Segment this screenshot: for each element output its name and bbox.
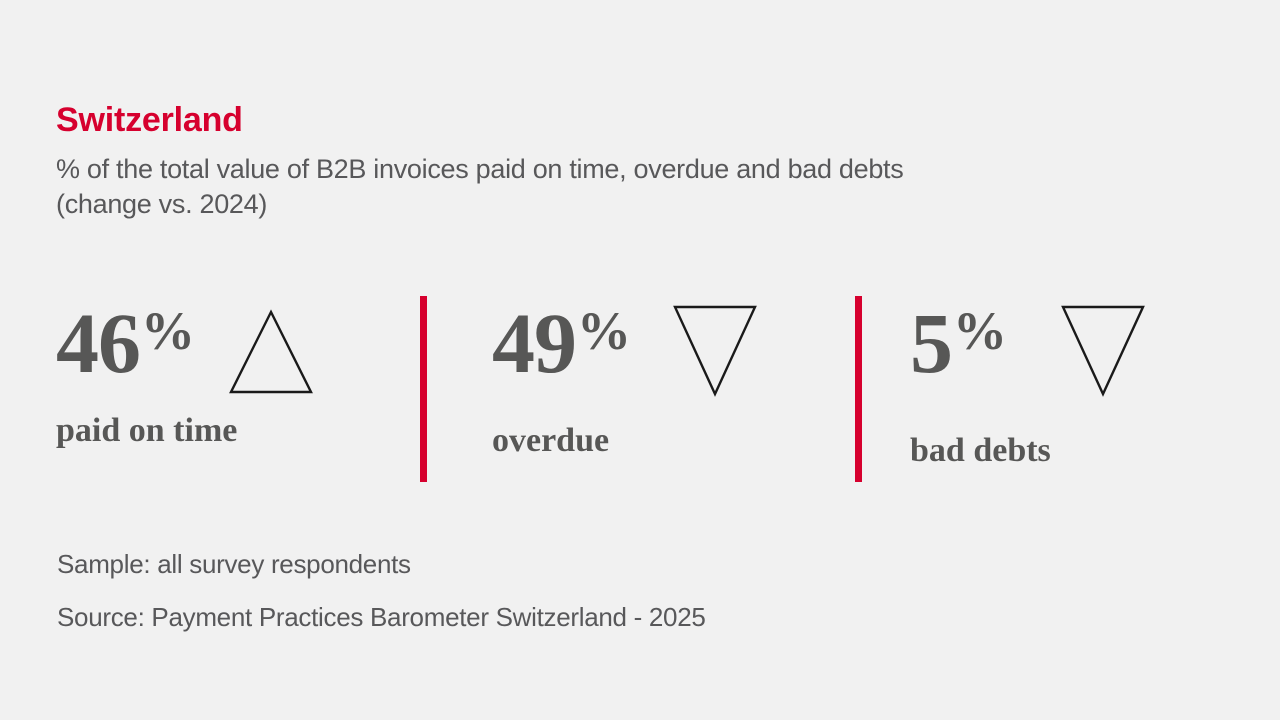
stat-label: bad debts [910,432,1051,470]
stat-value-group: 5 % [910,300,1146,401]
percent-symbol: % [953,302,1007,360]
stat-label: paid on time [56,412,237,450]
stat-label: overdue [492,422,609,460]
stat-divider-2 [855,296,862,482]
page-subtitle: % of the total value of B2B invoices pai… [56,140,1196,222]
percent-symbol: % [141,302,195,360]
footer: Sample: all survey respondents Source: P… [57,538,1217,644]
stat-value: 46 [56,300,140,386]
stats-row: 46 % paid on time 49 % [0,280,1280,500]
stat-block-paid-on-time: 46 % paid on time [56,280,396,500]
header: Switzerland % of the total value of B2B … [56,100,1236,222]
stat-block-bad-debts: 5 % bad debts [910,280,1230,500]
stat-divider-1 [420,296,427,482]
stat-value-group: 49 % [492,300,758,401]
stat-value: 49 [492,300,576,386]
triangle-up-icon [228,308,314,401]
stat-value-group: 46 % [56,300,314,393]
infographic-canvas: Switzerland % of the total value of B2B … [0,0,1280,720]
subtitle-line-2: (change vs. 2024) [56,187,1196,222]
percent-symbol: % [577,302,631,360]
subtitle-line-1: % of the total value of B2B invoices pai… [56,152,1196,187]
sample-note: Sample: all survey respondents [57,538,1217,591]
source-note: Source: Payment Practices Barometer Swit… [57,591,1217,644]
page-title: Switzerland [56,100,1236,140]
triangle-down-icon [672,302,758,403]
stat-value: 5 [910,300,952,386]
triangle-down-icon [1060,302,1146,403]
stat-block-overdue: 49 % overdue [492,280,832,500]
